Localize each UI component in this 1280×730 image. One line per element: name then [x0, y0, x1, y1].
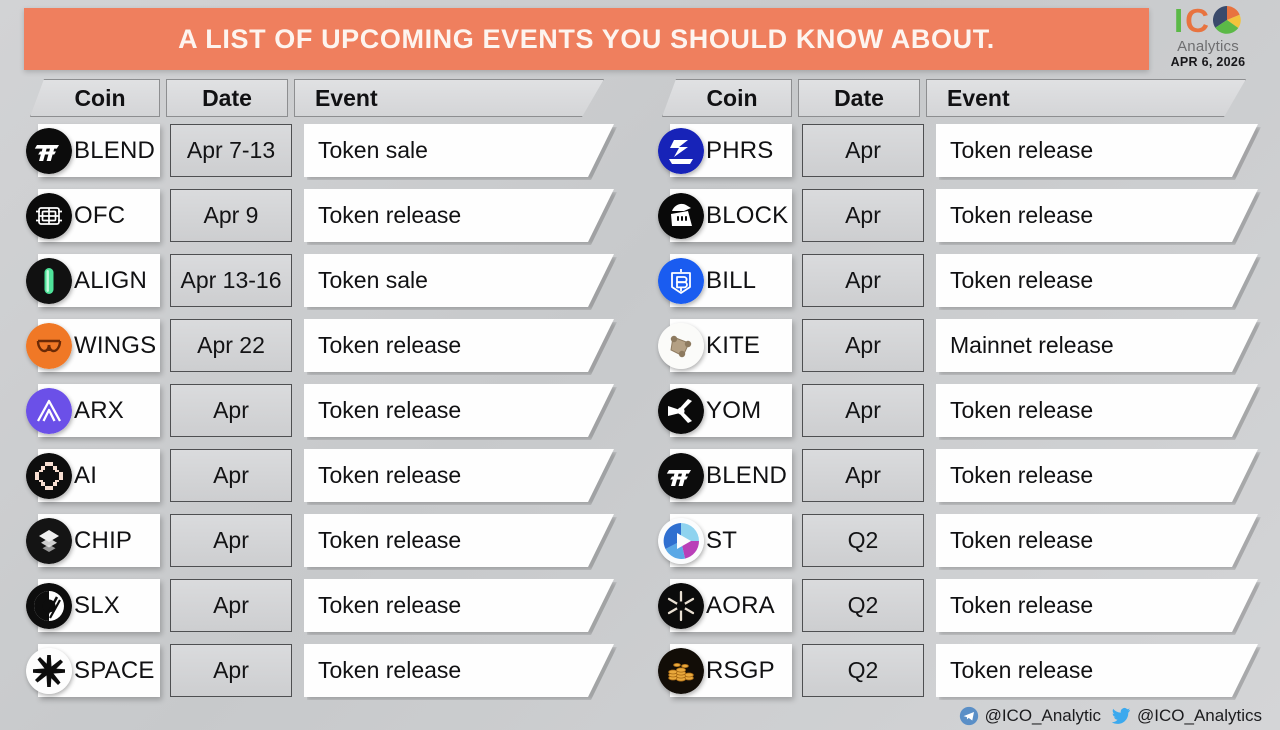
date-cell: Apr	[170, 449, 292, 502]
twitter-handle: @ICO_Analytics	[1137, 706, 1262, 726]
event-label: Token release	[936, 124, 1258, 177]
logo-wordmark: Analytics	[1148, 39, 1268, 54]
block-coin-icon	[658, 193, 704, 239]
telegram-handle: @ICO_Analytic	[985, 706, 1101, 726]
wings-coin-icon	[26, 323, 72, 369]
column-header-date: Date	[166, 79, 288, 117]
right-table-body: PHRSAprToken releaseBLOCKAprToken releas…	[640, 118, 1280, 703]
column-header-event: Event	[294, 79, 604, 117]
event-cell: Token release	[304, 384, 614, 437]
aora-coin-icon	[658, 583, 704, 629]
event-cell: Token release	[936, 579, 1258, 632]
twitter-bird-icon	[1111, 706, 1131, 726]
table-row[interactable]: BLENDAprToken release	[644, 443, 1280, 508]
event-label: Token release	[936, 514, 1258, 567]
ico-analytics-logo: I C Analytics APR 6, 2026	[1148, 2, 1268, 69]
coin-cell: SLX	[12, 579, 160, 632]
coin-ticker: BLEND	[74, 137, 155, 165]
coin-cell: AORA	[644, 579, 792, 632]
coin-ticker: SLX	[74, 592, 120, 620]
coin-cell: YOM	[644, 384, 792, 437]
coin-cell: RSGP	[644, 644, 792, 697]
table-row[interactable]: AORAQ2Token release	[644, 573, 1280, 638]
coin-ticker: OFC	[74, 202, 125, 230]
coin-ticker: WINGS	[74, 332, 156, 360]
event-cell: Token sale	[304, 254, 614, 307]
chip-coin-icon	[26, 518, 72, 564]
column-header-event: Event	[926, 79, 1246, 117]
left-events-table: Coin Date Event BLENDApr 7-13Token saleO…	[0, 78, 640, 703]
event-label: Token release	[304, 189, 614, 242]
event-label: Token release	[304, 644, 614, 697]
phrs-coin-icon	[658, 128, 704, 174]
date-cell: Apr	[802, 254, 924, 307]
coin-ticker: ALIGN	[74, 267, 147, 295]
event-cell: Token release	[936, 124, 1258, 177]
logo-letter-c: C	[1185, 4, 1209, 37]
table-row[interactable]: RSGPQ2Token release	[644, 638, 1280, 703]
table-row[interactable]: CHIPAprToken release	[12, 508, 640, 573]
event-cell: Token release	[304, 514, 614, 567]
event-cell: Token release	[936, 449, 1258, 502]
table-row[interactable]: OFCApr 9Token release	[12, 183, 640, 248]
coin-cell: ST	[644, 514, 792, 567]
coin-cell: BLEND	[12, 124, 160, 177]
table-row[interactable]: YOMAprToken release	[644, 378, 1280, 443]
table-row[interactable]: ARXAprToken release	[12, 378, 640, 443]
coin-ticker: SPACE	[74, 657, 155, 685]
table-row[interactable]: AIAprToken release	[12, 443, 640, 508]
column-header-coin: Coin	[662, 79, 792, 117]
coin-ticker: KITE	[706, 332, 760, 360]
date-cell: Apr	[802, 124, 924, 177]
event-label: Mainnet release	[936, 319, 1258, 372]
bill-coin-icon	[658, 258, 704, 304]
event-label: Token sale	[304, 254, 614, 307]
table-row[interactable]: KITEAprMainnet release	[644, 313, 1280, 378]
event-cell: Token release	[936, 254, 1258, 307]
table-row[interactable]: BILLAprToken release	[644, 248, 1280, 313]
pie-chart-o-icon	[1212, 5, 1242, 35]
event-label: Token release	[936, 384, 1258, 437]
coin-ticker: PHRS	[706, 137, 773, 165]
event-cell: Token release	[304, 319, 614, 372]
telegram-icon	[959, 706, 979, 726]
coin-cell: SPACE	[12, 644, 160, 697]
date-cell: Apr	[170, 579, 292, 632]
slx-coin-icon	[26, 583, 72, 629]
table-row[interactable]: PHRSAprToken release	[644, 118, 1280, 183]
st-coin-icon	[658, 518, 704, 564]
logo-lockup: I C	[1148, 2, 1268, 38]
left-table-header-row: Coin Date Event	[0, 78, 640, 118]
coin-ticker: ARX	[74, 397, 124, 425]
event-label: Token release	[304, 579, 614, 632]
coin-cell: BLOCK	[644, 189, 792, 242]
coin-ticker: BLOCK	[706, 202, 788, 230]
space-coin-icon	[26, 648, 72, 694]
left-table-body: BLENDApr 7-13Token saleOFCApr 9Token rel…	[0, 118, 640, 703]
event-label: Token release	[936, 644, 1258, 697]
date-cell: Apr	[802, 384, 924, 437]
twitter-link[interactable]: @ICO_Analytics	[1111, 706, 1262, 726]
event-label: Token release	[936, 449, 1258, 502]
table-row[interactable]: ALIGNApr 13-16Token sale	[12, 248, 640, 313]
header: A LIST OF UPCOMING EVENTS YOU SHOULD KNO…	[0, 8, 1280, 76]
table-row[interactable]: WINGSApr 22Token release	[12, 313, 640, 378]
title-banner: A LIST OF UPCOMING EVENTS YOU SHOULD KNO…	[24, 8, 1149, 70]
ai-coin-icon	[26, 453, 72, 499]
coin-ticker: BLEND	[706, 462, 787, 490]
event-label: Token release	[304, 514, 614, 567]
coin-cell: ARX	[12, 384, 160, 437]
coin-ticker: YOM	[706, 397, 761, 425]
event-cell: Token release	[936, 514, 1258, 567]
coin-cell: OFC	[12, 189, 160, 242]
coin-ticker: BILL	[706, 267, 756, 295]
coin-cell: WINGS	[12, 319, 160, 372]
coin-cell: BILL	[644, 254, 792, 307]
kite-coin-icon	[658, 323, 704, 369]
event-cell: Token release	[936, 189, 1258, 242]
date-cell: Apr	[170, 384, 292, 437]
table-row[interactable]: STQ2Token release	[644, 508, 1280, 573]
coin-ticker: AORA	[706, 592, 775, 620]
event-cell: Token release	[936, 644, 1258, 697]
date-cell: Apr	[802, 319, 924, 372]
coin-ticker: ST	[706, 527, 737, 555]
footer-social: @ICO_Analytic @ICO_Analytics	[959, 706, 1262, 726]
event-label: Token release	[304, 449, 614, 502]
arx-coin-icon	[26, 388, 72, 434]
event-cell: Token sale	[304, 124, 614, 177]
date-cell: Apr	[170, 644, 292, 697]
date-cell: Apr 13-16	[170, 254, 292, 307]
ofc-coin-icon	[26, 193, 72, 239]
tables-container: Coin Date Event BLENDApr 7-13Token saleO…	[0, 78, 1280, 703]
date-cell: Apr 7-13	[170, 124, 292, 177]
blend-coin-icon	[26, 128, 72, 174]
event-label: Token release	[936, 254, 1258, 307]
date-cell: Apr 22	[170, 319, 292, 372]
table-row[interactable]: BLOCKAprToken release	[644, 183, 1280, 248]
date-cell: Q2	[802, 579, 924, 632]
right-table-header-row: Coin Date Event	[640, 78, 1280, 118]
coin-cell: BLEND	[644, 449, 792, 502]
coin-cell: KITE	[644, 319, 792, 372]
event-label: Token sale	[304, 124, 614, 177]
date-cell: Apr	[802, 189, 924, 242]
logo-letter-i: I	[1174, 4, 1183, 37]
coin-ticker: AI	[74, 462, 97, 490]
page-title: A LIST OF UPCOMING EVENTS YOU SHOULD KNO…	[178, 24, 995, 55]
rsgp-coin-icon	[658, 648, 704, 694]
event-label: Token release	[304, 319, 614, 372]
date-cell: Q2	[802, 644, 924, 697]
yom-coin-icon	[658, 388, 704, 434]
align-coin-icon	[26, 258, 72, 304]
date-cell: Q2	[802, 514, 924, 567]
coin-cell: AI	[12, 449, 160, 502]
event-cell: Token release	[304, 579, 614, 632]
table-row[interactable]: BLENDApr 7-13Token sale	[12, 118, 640, 183]
event-cell: Token release	[304, 644, 614, 697]
date-cell: Apr	[802, 449, 924, 502]
telegram-link[interactable]: @ICO_Analytic	[959, 706, 1101, 726]
column-header-date: Date	[798, 79, 920, 117]
event-cell: Mainnet release	[936, 319, 1258, 372]
blend-coin-icon	[658, 453, 704, 499]
logo-date: APR 6, 2026	[1148, 56, 1268, 69]
coin-ticker: CHIP	[74, 527, 132, 555]
coin-ticker: RSGP	[706, 657, 775, 685]
event-cell: Token release	[304, 449, 614, 502]
date-cell: Apr 9	[170, 189, 292, 242]
column-header-coin: Coin	[30, 79, 160, 117]
coin-cell: PHRS	[644, 124, 792, 177]
event-label: Token release	[304, 384, 614, 437]
event-cell: Token release	[936, 384, 1258, 437]
event-cell: Token release	[304, 189, 614, 242]
coin-cell: ALIGN	[12, 254, 160, 307]
table-row[interactable]: SPACEAprToken release	[12, 638, 640, 703]
event-label: Token release	[936, 579, 1258, 632]
right-events-table: Coin Date Event PHRSAprToken releaseBLOC…	[640, 78, 1280, 703]
table-row[interactable]: SLXAprToken release	[12, 573, 640, 638]
date-cell: Apr	[170, 514, 292, 567]
event-label: Token release	[936, 189, 1258, 242]
coin-cell: CHIP	[12, 514, 160, 567]
